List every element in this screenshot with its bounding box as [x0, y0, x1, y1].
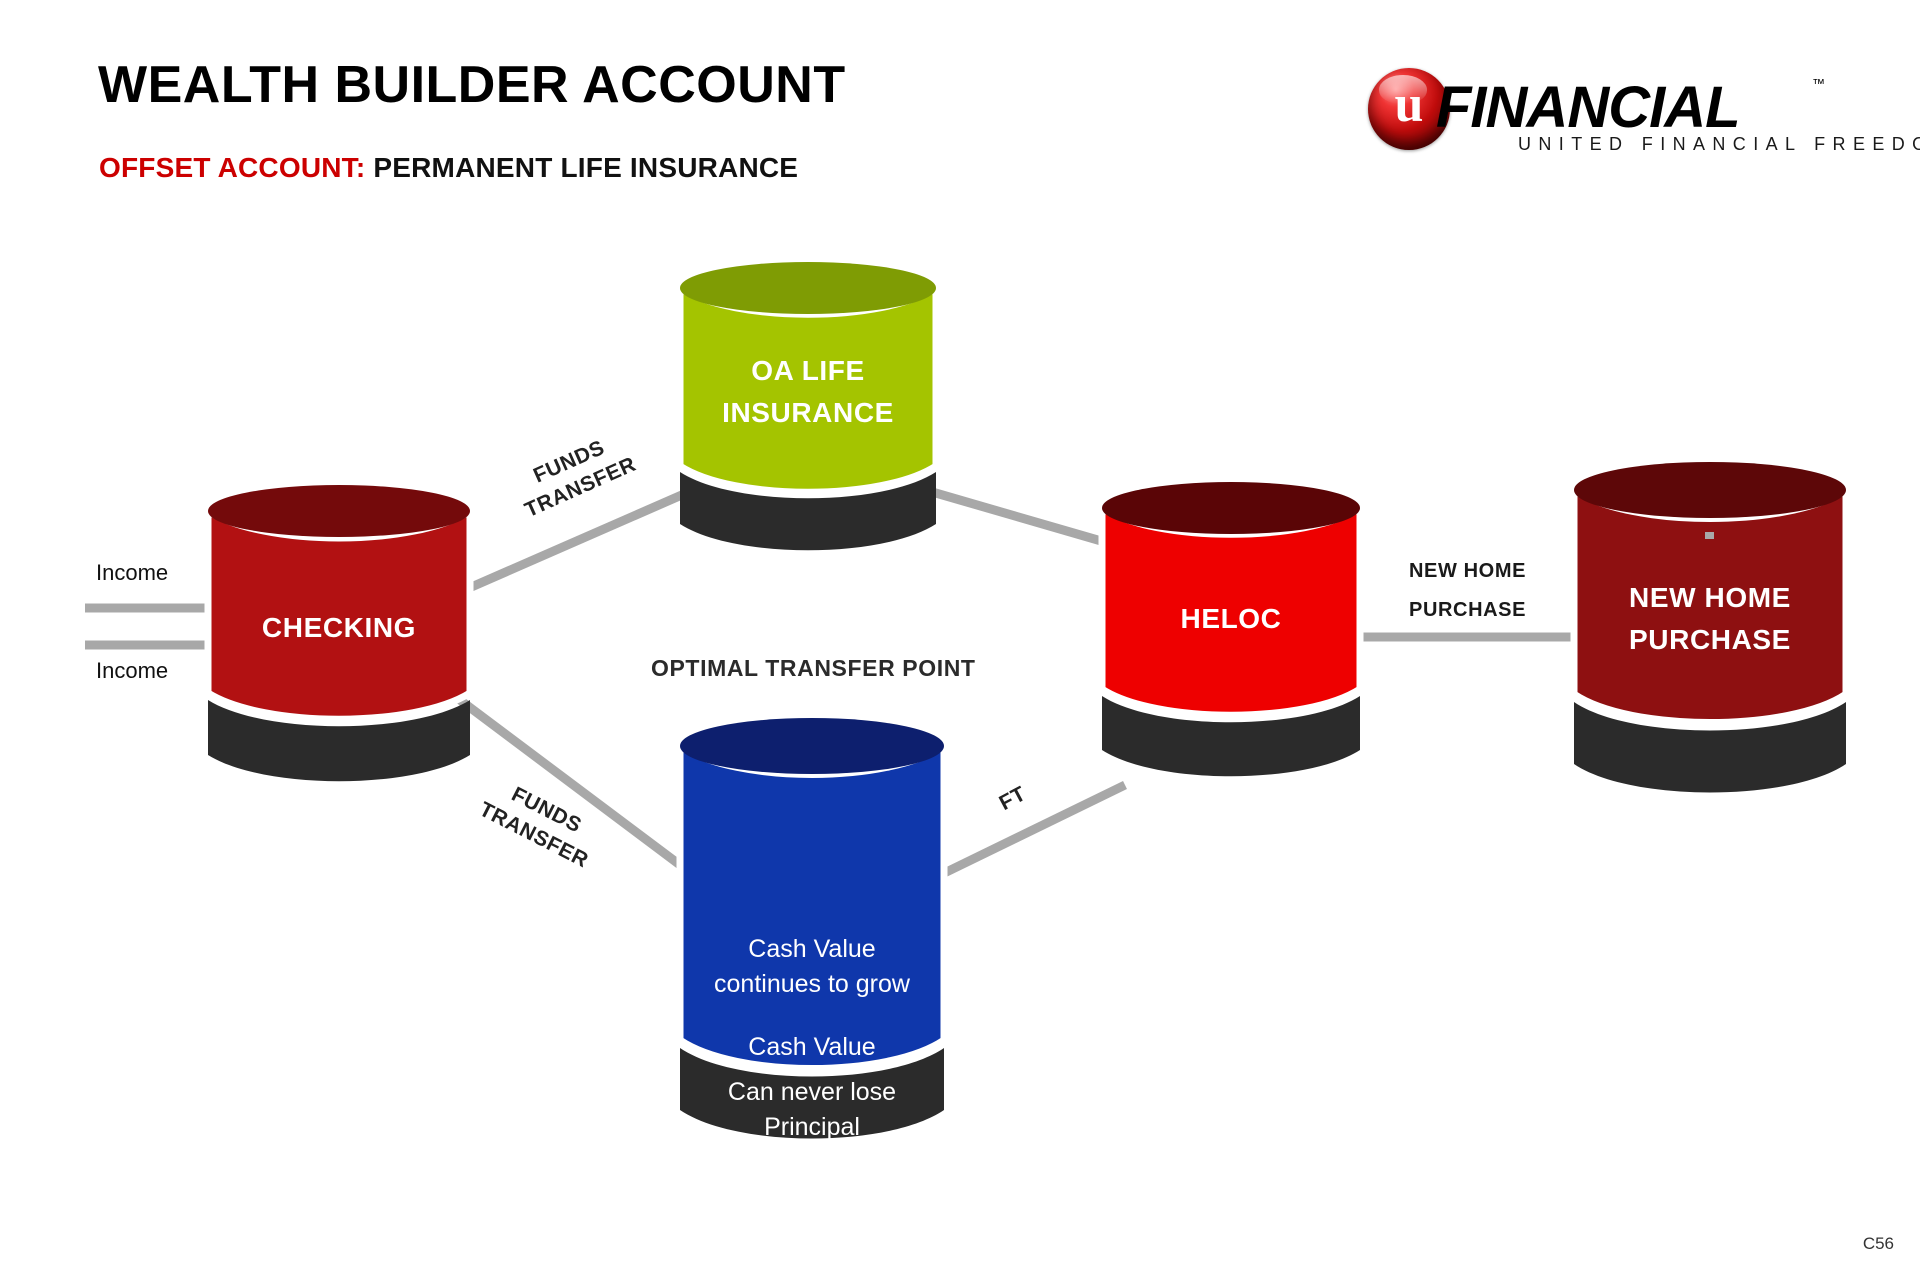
oalife-top [680, 262, 936, 314]
logo-trademark: ™ [1812, 76, 1825, 91]
cashvalue-top [680, 718, 944, 774]
brand-logo: u FINANCIAL ™ UNITED FINANCIAL FREEDOM [1368, 60, 1828, 156]
label-funds-transfer-top: FUNDS TRANSFER [495, 419, 655, 531]
footer-code: C56 [1863, 1234, 1894, 1254]
node-cash-value[interactable]: Cash Value continues to grow Cash Value … [676, 718, 948, 1150]
node-heloc[interactable]: HELOC [1098, 482, 1364, 787]
logo-tagline: UNITED FINANCIAL FREEDOM [1518, 134, 1920, 155]
label-ft-text: FT [984, 775, 1041, 823]
node-checking[interactable]: CHECKING [204, 485, 474, 790]
checking-top [208, 485, 470, 537]
node-new-home-purchase[interactable]: NEW HOME PURCHASE [1570, 462, 1850, 804]
newhome-top [1574, 462, 1846, 518]
subtitle: OFFSET ACCOUNT: PERMANENT LIFE INSURANCE [99, 152, 798, 184]
heloc-top [1102, 482, 1360, 534]
subtitle-label: OFFSET ACCOUNT: [99, 152, 365, 183]
logo-orb-letter: u [1368, 60, 1450, 142]
node-oa-life-insurance[interactable]: OA LIFE INSURANCE [676, 262, 940, 562]
cashvalue-body [680, 746, 944, 1069]
checking-body [208, 511, 470, 719]
subtitle-value: PERMANENT LIFE INSURANCE [365, 152, 798, 183]
logo-wordmark: FINANCIAL [1436, 74, 1740, 141]
newhome-top-tick [1705, 532, 1714, 539]
label-income-top: Income [96, 560, 168, 586]
oalife-body [680, 288, 936, 492]
label-new-home-purchase-line1: NEW HOME [1409, 560, 1526, 583]
page-title: WEALTH BUILDER ACCOUNT [98, 55, 846, 115]
heloc-body [1102, 508, 1360, 715]
newhome-body [1574, 490, 1846, 723]
label-income-bottom: Income [96, 658, 168, 684]
label-new-home-purchase-line2: PURCHASE [1409, 599, 1526, 622]
label-ft: FT [984, 775, 1041, 823]
label-optimal-transfer-point: OPTIMAL TRANSFER POINT [651, 655, 976, 682]
link-oalife-heloc [915, 487, 1115, 545]
label-funds-transfer-bottom: FUNDS TRANSFER [460, 764, 619, 882]
